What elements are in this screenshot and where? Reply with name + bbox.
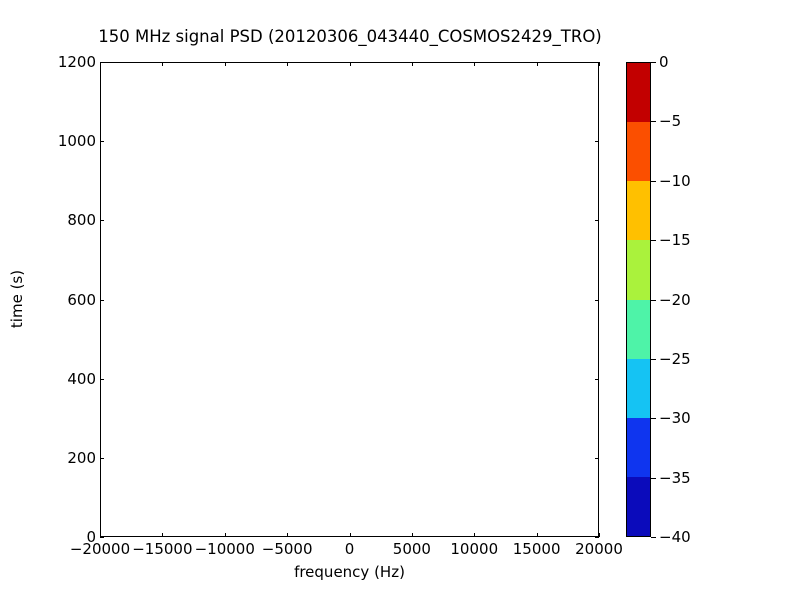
x-axis-tick-label: 5000 [393, 540, 431, 558]
x-axis-tick-label: −5000 [262, 540, 313, 558]
page-title: 150 MHz signal PSD (20120306_043440_COSM… [0, 27, 700, 46]
y-axis-tick-label: 800 [67, 211, 96, 229]
x-axis-tick-label: 0 [345, 540, 355, 558]
x-axis-tick [350, 533, 351, 537]
x-axis-tick [287, 533, 288, 537]
x-axis-tick [287, 62, 288, 66]
colorbar-band [627, 418, 650, 477]
y-axis-tick-label: 0 [86, 528, 96, 546]
y-axis-label: time (s) [8, 270, 26, 328]
colorbar-band [627, 181, 650, 240]
x-axis-tick [225, 533, 226, 537]
x-axis-tick [537, 533, 538, 537]
colorbar-tick-label: −15 [659, 231, 691, 249]
x-axis-tick-label: −15000 [132, 540, 192, 558]
y-axis-tick [595, 62, 599, 63]
x-axis-tick-label: 20000 [575, 540, 623, 558]
y-axis-tick [595, 458, 599, 459]
colorbar-tick [651, 181, 656, 182]
y-axis-tick-label: 400 [67, 370, 96, 388]
y-axis-tick [100, 62, 104, 63]
y-axis-tick [595, 141, 599, 142]
colorbar-tick-label: −10 [659, 172, 691, 190]
y-axis-tick [100, 141, 104, 142]
colorbar-tick-label: 0 [659, 53, 669, 71]
plot-axes [100, 62, 599, 537]
x-axis-tick [162, 533, 163, 537]
x-axis-tick [412, 62, 413, 66]
x-axis-tick [474, 533, 475, 537]
colorbar-tick [651, 121, 656, 122]
colorbar-tick [651, 359, 656, 360]
colorbar-band [627, 63, 650, 122]
y-axis-tick [100, 220, 104, 221]
y-axis-tick [595, 537, 599, 538]
y-axis-tick [100, 300, 104, 301]
colorbar-band [627, 122, 650, 181]
x-axis-tick-label: 15000 [513, 540, 561, 558]
x-axis-tick [599, 62, 600, 66]
colorbar-tick [651, 478, 656, 479]
x-axis-tick [412, 533, 413, 537]
x-axis-tick [474, 62, 475, 66]
x-axis-tick-label: −10000 [195, 540, 255, 558]
colorbar-tick-label: −30 [659, 409, 691, 427]
colorbar-tick [651, 240, 656, 241]
x-axis-tick-label: −20000 [70, 540, 130, 558]
colorbar-tick-label: −35 [659, 469, 691, 487]
colorbar-tick [651, 300, 656, 301]
spectrogram-heatmap [101, 63, 599, 537]
y-axis-tick [595, 220, 599, 221]
colorbar-tick-label: −40 [659, 528, 691, 546]
colorbar-band [627, 359, 650, 418]
colorbar-band [627, 300, 650, 359]
colorbar [626, 62, 651, 537]
x-axis-tick [225, 62, 226, 66]
colorbar-tick-label: −20 [659, 291, 691, 309]
x-axis-tick [350, 62, 351, 66]
colorbar-tick [651, 62, 656, 63]
y-axis-tick-label: 1200 [58, 53, 96, 71]
x-axis-tick [537, 62, 538, 66]
x-axis-label: frequency (Hz) [100, 563, 599, 581]
figure-canvas: 150 MHz signal PSD (20120306_043440_COSM… [0, 0, 800, 600]
y-axis-tick [100, 458, 104, 459]
y-axis-tick [100, 537, 104, 538]
x-axis-tick [599, 533, 600, 537]
y-axis-tick-label: 200 [67, 449, 96, 467]
x-axis-tick [162, 62, 163, 66]
colorbar-tick-label: −5 [659, 112, 681, 130]
y-axis-tick [100, 379, 104, 380]
colorbar-tick [651, 418, 656, 419]
x-axis-tick-label: 10000 [450, 540, 498, 558]
y-axis-tick-label: 1000 [58, 132, 96, 150]
y-axis-tick [595, 300, 599, 301]
y-axis-tick [595, 379, 599, 380]
y-axis-tick-label: 600 [67, 291, 96, 309]
colorbar-tick [651, 537, 656, 538]
colorbar-tick-label: −25 [659, 350, 691, 368]
colorbar-band [627, 477, 650, 536]
colorbar-band [627, 240, 650, 299]
